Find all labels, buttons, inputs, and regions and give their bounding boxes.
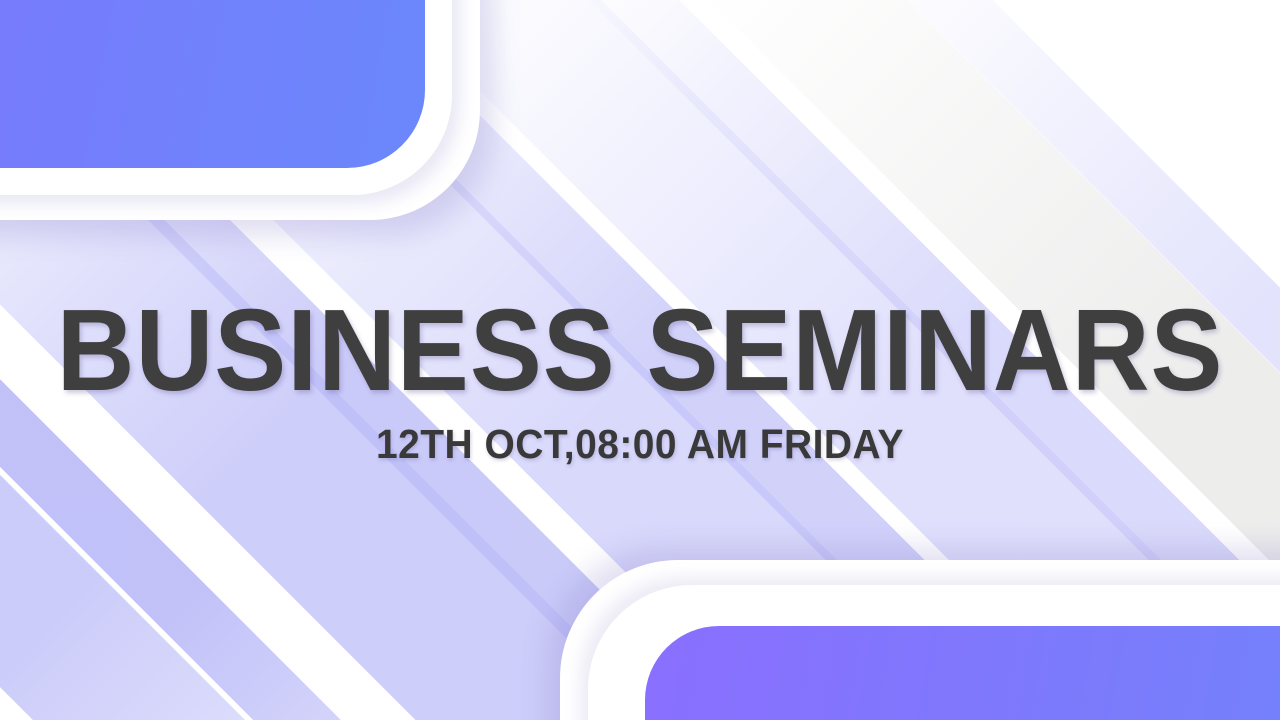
top-left-gradient-panel <box>0 0 425 168</box>
event-banner: BUSINESS SEMINARS 12TH OCT,08:00 AM FRID… <box>0 0 1280 720</box>
bottom-right-gradient-panel <box>645 626 1280 720</box>
